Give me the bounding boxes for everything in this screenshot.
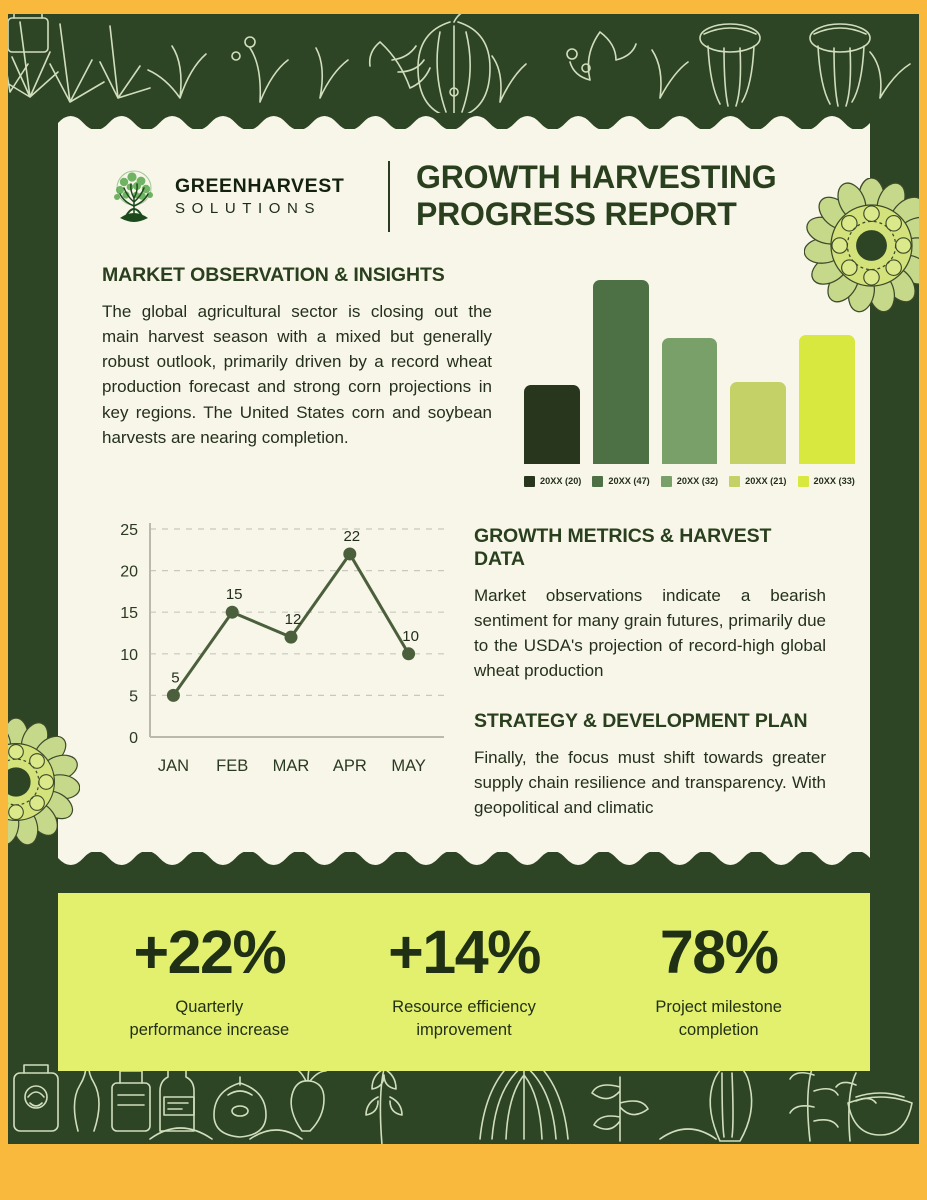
bar-1 — [524, 385, 580, 463]
bar-chart: 20XX (20)20XX (47)20XX (32)20XX (21)20XX… — [518, 264, 855, 487]
stat-label: Resource efficiencyimprovement — [337, 996, 592, 1043]
stat-label: Quarterlyperformance increase — [82, 996, 337, 1043]
legend-label: 20XX (20) — [540, 476, 581, 486]
bar-3 — [662, 338, 718, 463]
card-scallop-top-edge — [58, 113, 870, 129]
legend-label: 20XX (32) — [677, 476, 718, 486]
brand-subtitle: SOLUTIONS — [175, 201, 344, 216]
growth-metrics-title: GROWTH METRICS & HARVEST DATA — [474, 525, 826, 571]
stat-label-line-2: performance increase — [82, 1019, 337, 1042]
stat-label-line-1: Quarterly — [82, 996, 337, 1019]
frame-strip-bottom — [0, 1186, 927, 1200]
data-point — [226, 606, 239, 619]
x-tick-label: MAY — [391, 757, 426, 775]
legend-swatch-icon — [798, 476, 809, 487]
legend-swatch-icon — [729, 476, 740, 487]
page-title: GROWTH HARVESTING PROGRESS REPORT — [416, 159, 776, 234]
x-tick-label: JAN — [158, 757, 189, 775]
line-chart-plot-area: 05101520255JAN15FEB12MAR22APR10MAY — [102, 513, 448, 783]
stat-label-line-2: improvement — [337, 1019, 592, 1042]
data-point-label: 12 — [285, 611, 302, 628]
stat-card-3: 78%Project milestonecompletion — [591, 922, 846, 1043]
market-observation-section: MARKET OBSERVATION & INSIGHTS The global… — [102, 264, 492, 487]
legend-swatch-icon — [524, 476, 535, 487]
line-chart: 05101520255JAN15FEB12MAR22APR10MAY — [102, 513, 448, 820]
data-point-label: 15 — [226, 586, 243, 603]
page-title-line-1: GROWTH HARVESTING — [416, 159, 776, 196]
x-tick-label: APR — [333, 757, 367, 775]
stat-card-1: +22%Quarterlyperformance increase — [82, 922, 337, 1043]
key-stats-band: +22%Quarterlyperformance increase+14%Res… — [58, 893, 870, 1071]
bar-chart-plot-area — [518, 268, 855, 464]
y-tick-label: 10 — [120, 647, 138, 664]
stat-label: Project milestonecompletion — [591, 996, 846, 1043]
stat-value: +22% — [82, 922, 337, 983]
legend-item-3: 20XX (32) — [661, 476, 718, 487]
stat-label-line-1: Resource efficiency — [337, 996, 592, 1019]
legend-swatch-icon — [592, 476, 603, 487]
header-divider — [388, 161, 390, 232]
decorative-harvest-doodle-band-top — [0, 14, 927, 114]
data-point-label: 10 — [402, 628, 419, 645]
data-point-label: 5 — [171, 669, 179, 686]
frame-strip-bottom-inner — [0, 1144, 927, 1186]
frame-strip-left — [0, 0, 8, 1200]
data-point — [343, 547, 356, 560]
legend-label: 20XX (21) — [745, 476, 786, 486]
legend-item-2: 20XX (47) — [592, 476, 649, 487]
bar-chart-legend: 20XX (20)20XX (47)20XX (32)20XX (21)20XX… — [518, 476, 855, 487]
y-tick-label: 15 — [120, 605, 138, 622]
legend-item-5: 20XX (33) — [798, 476, 855, 487]
growth-metrics-body: Market observations indicate a bearish s… — [474, 583, 826, 684]
frame-strip-right — [919, 0, 927, 1200]
card-scallop-bottom-edge — [58, 852, 870, 868]
market-observation-body: The global agricultural sector is closin… — [102, 299, 492, 450]
x-tick-label: MAR — [273, 757, 310, 775]
data-point-label: 22 — [343, 528, 360, 545]
data-point — [285, 631, 298, 644]
growth-metrics-section: GROWTH METRICS & HARVEST DATA Market obs… — [474, 525, 826, 684]
legend-swatch-icon — [661, 476, 672, 487]
y-tick-label: 0 — [129, 730, 138, 747]
strategy-body: Finally, the focus must shift towards gr… — [474, 745, 826, 820]
page-title-line-2: PROGRESS REPORT — [416, 196, 776, 233]
data-point — [402, 647, 415, 660]
legend-label: 20XX (33) — [814, 476, 855, 486]
y-tick-label: 20 — [120, 563, 138, 580]
market-observation-title: MARKET OBSERVATION & INSIGHTS — [102, 264, 492, 287]
legend-label: 20XX (47) — [608, 476, 649, 486]
stat-value: +14% — [337, 922, 592, 983]
brand-name: GREENHARVEST — [175, 177, 344, 197]
report-header: GREENHARVEST SOLUTIONS GROWTH HARVESTING… — [102, 159, 826, 234]
bar-4 — [730, 382, 786, 464]
stat-card-2: +14%Resource efficiencyimprovement — [337, 922, 592, 1043]
stat-value: 78% — [591, 922, 846, 983]
data-point — [167, 689, 180, 702]
legend-item-1: 20XX (20) — [524, 476, 581, 487]
legend-item-4: 20XX (21) — [729, 476, 786, 487]
stat-label-line-2: completion — [591, 1019, 846, 1042]
x-tick-label: FEB — [216, 757, 248, 775]
strategy-section: STRATEGY & DEVELOPMENT PLAN Finally, the… — [474, 710, 826, 820]
strategy-title: STRATEGY & DEVELOPMENT PLAN — [474, 710, 826, 733]
y-tick-label: 25 — [120, 522, 138, 539]
bar-2 — [593, 280, 649, 464]
stat-label-line-1: Project milestone — [591, 996, 846, 1019]
y-tick-label: 5 — [129, 688, 138, 705]
frame-strip-top — [0, 0, 927, 14]
tree-logo-icon — [106, 168, 162, 224]
report-card: GREENHARVEST SOLUTIONS GROWTH HARVESTING… — [58, 113, 870, 868]
brand-lockup: GREENHARVEST SOLUTIONS — [106, 168, 362, 224]
bar-5 — [799, 335, 855, 464]
